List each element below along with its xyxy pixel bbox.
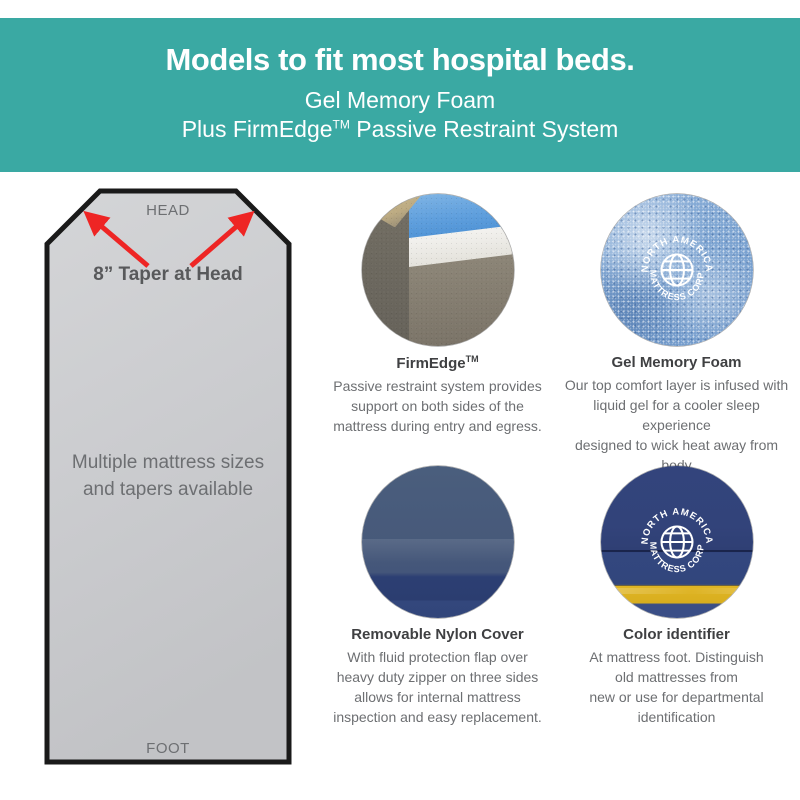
feature-desc-line: Our top comfort layer is infused with [563,376,790,396]
feature-title-text: Gel Memory Foam [611,354,741,371]
feature-desc-line: heavy duty zipper on three sides [324,668,551,688]
firmedge-photo-layers [362,194,514,346]
cover-seam-line-lower [601,585,753,586]
north-america-mattress-corp-logo-icon: NORTH AMERICA MATTRESS CORP. [634,499,720,585]
mattress-sizes-note: Multiple mattress sizes and tapers avail… [44,450,292,504]
mattress-sizes-note-line1: Multiple mattress sizes [44,450,292,477]
mattress-sizes-note-line2: and tapers available [44,477,292,504]
mattress-diagram: HEAD 8” Taper at Head Multiple mattress … [44,188,292,766]
feature-desc-line: With fluid protection flap over [324,648,551,668]
header-banner: Models to fit most hospital beds. Gel Me… [0,18,800,172]
north-america-mattress-corp-logo-icon: NORTH AMERICA MATTRESS CORP. [634,227,720,313]
color-identifier-surface: NORTH AMERICA MATTRESS CORP. [601,466,753,618]
feature-image-holder [318,462,557,622]
feature-title: Removable Nylon Cover [318,626,557,644]
feature-desc-line: allows for internal mattress [324,688,551,708]
feature-title-text: Removable Nylon Cover [351,626,524,643]
feature-title-text: Color identifier [623,626,730,643]
removable-nylon-cover-photo [362,466,514,618]
feature-image-holder [318,190,557,350]
firmedge-foam-layers-photo [362,194,514,346]
feature-desc-line: new or use for departmental [563,688,790,708]
header-subtitle-line2-pre: Plus FirmEdge [182,116,333,142]
foot-label: FOOT [44,740,292,757]
feature-title: FirmEdgeTM [318,354,557,373]
feature-title-text: FirmEdge [396,355,465,372]
feature-desc-line: mattress during entry and egress. [324,417,551,437]
gel-foam-surface: NORTH AMERICA MATTRESS CORP. [601,194,753,346]
header-subtitle-line2-post: Passive Restraint System [350,116,618,142]
feature-image-holder: NORTH AMERICA MATTRESS CORP. [557,190,796,350]
feature-title: Gel Memory Foam [557,354,796,372]
feature-desc-line: old mattresses from [563,668,790,688]
header-subtitle-line1: Gel Memory Foam [305,86,495,116]
features-grid: FirmEdgeTM Passive restraint system prov… [318,190,796,770]
head-label: HEAD [44,202,292,219]
feature-description: Our top comfort layer is infused with li… [557,376,796,475]
trademark-symbol: TM [333,118,350,132]
feature-desc-line: At mattress foot. Distinguish [563,648,790,668]
feature-desc-line: inspection and easy replacement. [324,708,551,728]
feature-firmedge: FirmEdgeTM Passive restraint system prov… [318,190,557,437]
color-identifier-photo: NORTH AMERICA MATTRESS CORP. [601,466,753,618]
taper-callout-text: 8” Taper at Head [44,264,292,286]
feature-description: With fluid protection flap over heavy du… [318,648,557,728]
header-subtitle-line2: Plus FirmEdgeTM Passive Restraint System [182,115,619,145]
feature-color-identifier: NORTH AMERICA MATTRESS CORP. Color ident… [557,462,796,728]
feature-desc-line: support on both sides of the [324,397,551,417]
feature-removable-nylon-cover: Removable Nylon Cover With fluid protect… [318,462,557,728]
infographic-page: Models to fit most hospital beds. Gel Me… [0,0,800,800]
feature-description: Passive restraint system provides suppor… [318,377,557,437]
feature-gel-memory-foam: NORTH AMERICA MATTRESS CORP. Gel Memory … [557,190,796,475]
trademark-symbol: TM [466,354,479,364]
feature-desc-line: Passive restraint system provides [324,377,551,397]
feature-title: Color identifier [557,626,796,644]
nylon-cover-surface [362,466,514,618]
nylon-cover-sheen [362,539,514,563]
page-title: Models to fit most hospital beds. [165,44,634,77]
color-band-highlight [601,588,753,594]
gel-memory-foam-photo: NORTH AMERICA MATTRESS CORP. [601,194,753,346]
foam-texture-overlay [362,194,514,346]
feature-desc-line: identification [563,708,790,728]
feature-image-holder: NORTH AMERICA MATTRESS CORP. [557,462,796,622]
feature-description: At mattress foot. Distinguish old mattre… [557,648,796,728]
feature-desc-line: liquid gel for a cooler sleep experience [563,396,790,436]
